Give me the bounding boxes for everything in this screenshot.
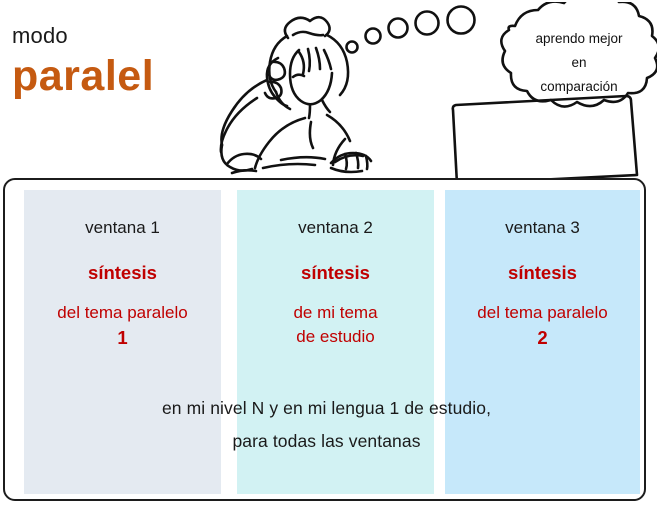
window-column-1-desc-line-1: del tema paralelo — [24, 301, 221, 326]
window-column-3-heading: ventana 3 — [445, 218, 640, 238]
window-column-2-description: de mi tema de estudio — [237, 301, 434, 350]
window-column-2-sintesis: síntesis — [237, 262, 434, 284]
window-column-3-desc-line-1: del tema paralelo — [445, 301, 640, 326]
thought-bubble-line-3: comparación — [540, 79, 617, 94]
window-column-2: ventana 2 síntesis de mi tema de estudio — [237, 190, 434, 494]
window-column-3-sintesis: síntesis — [445, 262, 640, 284]
window-column-2-desc-line-2: de estudio — [237, 325, 434, 350]
window-column-1-desc-line-2: 1 — [24, 325, 221, 352]
window-column-2-desc-line-1: de mi tema — [237, 301, 434, 326]
window-column-1-sintesis: síntesis — [24, 262, 221, 284]
title-modo: modo — [12, 24, 222, 48]
title-block: modo paralel — [12, 24, 222, 99]
window-column-3-desc-line-2: 2 — [445, 325, 640, 352]
header: modo paralel — [0, 0, 657, 178]
window-column-1: ventana 1 síntesis del tema paralelo 1 — [24, 190, 221, 494]
window-column-1-description: del tema paralelo 1 — [24, 301, 221, 352]
title-paralel: paralel — [12, 54, 222, 99]
thought-bubble-line-2: en — [571, 55, 586, 70]
parallel-mode-panel: ventana 1 síntesis del tema paralelo 1 v… — [3, 178, 646, 501]
thought-bubble-line-1: aprendo mejor — [535, 31, 623, 46]
window-column-2-heading: ventana 2 — [237, 218, 434, 238]
window-column-3: ventana 3 síntesis del tema paralelo 2 — [445, 190, 640, 494]
student-at-laptop-illustration: aprendo mejor en comparación — [215, 2, 657, 178]
window-column-1-heading: ventana 1 — [24, 218, 221, 238]
window-column-3-description: del tema paralelo 2 — [445, 301, 640, 352]
